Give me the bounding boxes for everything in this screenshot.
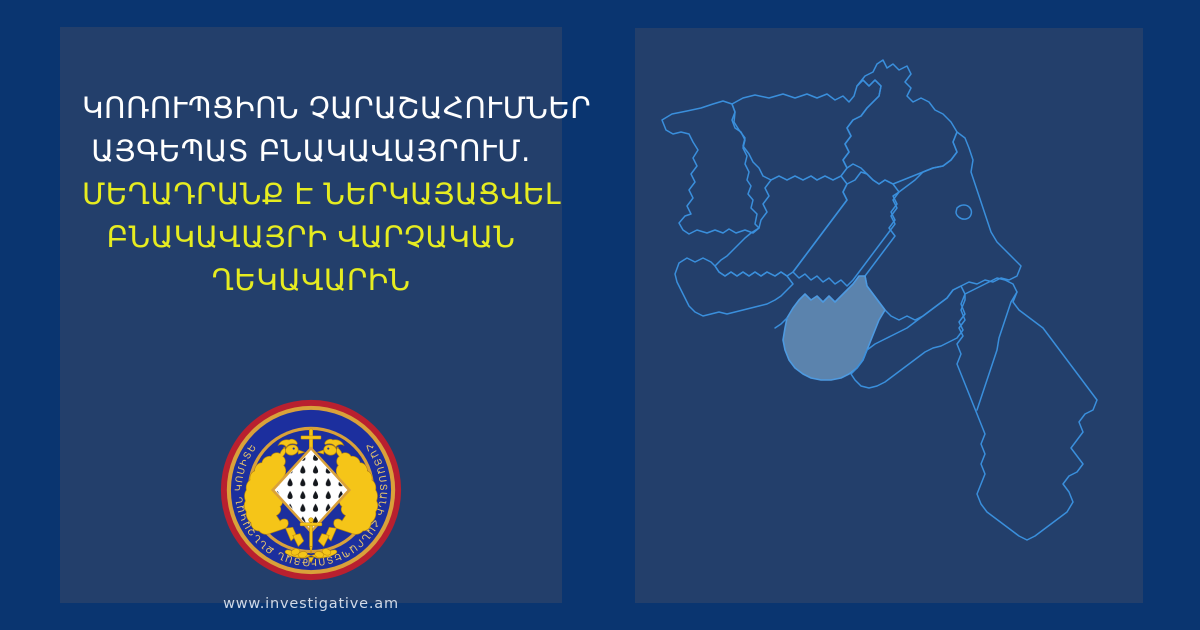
map-region-tavush [843, 60, 957, 184]
left-content-panel: ԿՈՌՈՒՊՑԻՈՆ ՉԱՐԱՇԱՀՈՒՄՆԵՐ ԱՅԳԵՊԱՏ ԲՆԱԿԱՎԱ… [60, 27, 562, 603]
poster-canvas: ԿՈՌՈՒՊՑԻՈՆ ՉԱՐԱՇԱՀՈՒՄՆԵՐ ԱՅԳԵՊԱՏ ԲՆԱԿԱՎԱ… [0, 0, 1200, 630]
map-region-ararat [783, 276, 885, 380]
website-url[interactable]: www.investigative.am [60, 596, 562, 612]
headline-line-4: ԲՆԱԿԱՎԱՅՐԻ ՎԱՐՉԱԿԱՆ [82, 216, 540, 259]
emblem: ՀԱՅԱՍՏԱՆԻ ՀԱՆՐԱՊԵՏՈՒԹՅԱՆ ՔՆՆՉԱԿԱՆ ԿՈՄԻՏԵ [220, 399, 402, 581]
headline-line-5: ՂԵԿԱՎԱՐԻՆ [82, 259, 540, 302]
map-region-armavir [675, 258, 793, 316]
map-region-lori [732, 80, 881, 180]
map-panel [635, 28, 1143, 603]
map-region-kotayk [793, 172, 899, 286]
armenia-map[interactable] [635, 28, 1143, 603]
headline-line-1: ԿՈՌՈՒՊՑԻՈՆ ՉԱՐԱՇԱՀՈՒՄՆԵՐ [82, 87, 540, 130]
headline-line-3: ՄԵՂԱԴՐԱՆՔ Է ՆԵՐԿԱՅԱՑՎԵԼ [82, 173, 540, 216]
map-lake-island [956, 205, 971, 219]
map-region-gegharkunik [865, 132, 1021, 320]
map-region-divider-south [977, 292, 1017, 410]
map-region-shirak [662, 101, 759, 234]
page-title: ԿՈՌՈՒՊՑԻՈՆ ՉԱՐԱՇԱՀՈՒՄՆԵՐ ԱՅԳԵՊԱՏ ԲՆԱԿԱՎԱ… [60, 87, 562, 302]
headline-line-2: ԱՅԳԵՊԱՏ ԲՆԱԿԱՎԱՅՐՈՒՄ. [82, 130, 540, 173]
